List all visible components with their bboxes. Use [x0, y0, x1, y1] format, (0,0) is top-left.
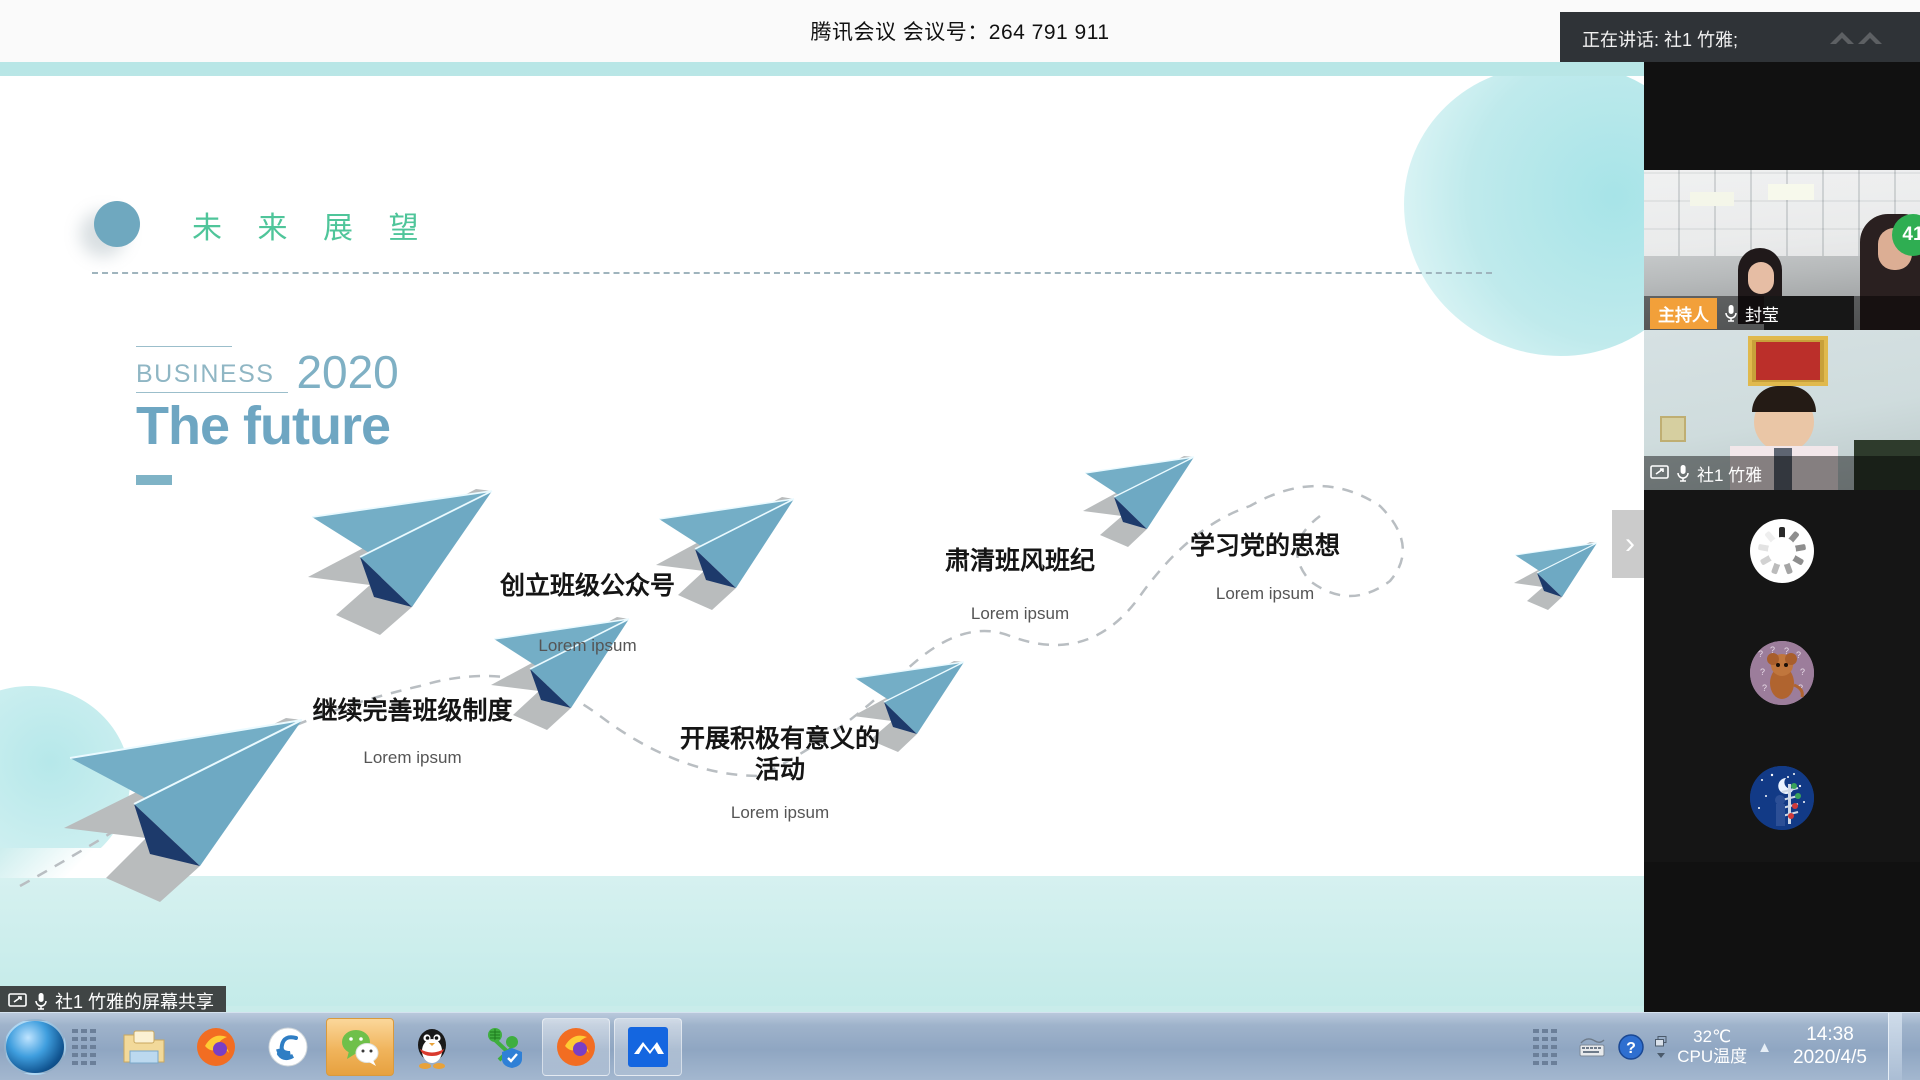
sogou-input-icon	[267, 1026, 309, 1068]
next-slide-button[interactable]: ›	[1612, 510, 1648, 578]
taskbar-qq-button[interactable]	[398, 1018, 466, 1076]
cpu-temp-value: 32℃	[1677, 1027, 1747, 1047]
tencent-meeting-icon	[626, 1025, 670, 1069]
clock-time: 14:38	[1782, 1024, 1878, 1047]
svg-text:?: ?	[1758, 649, 1763, 659]
speaking-text: 正在讲话: 社1 竹雅;	[1582, 26, 1738, 52]
shared-slide: 未 来 展 望 BUSINESS 2020 The future	[0, 76, 1644, 1006]
taskbar-tencent-meeting-button[interactable]	[614, 1018, 682, 1076]
taskbar-file-explorer-button[interactable]	[110, 1018, 178, 1076]
milestone-sub-4: Lorem ipsum	[905, 604, 1135, 624]
tray-overflow-group[interactable]	[1655, 1036, 1667, 1059]
file-explorer-icon	[122, 1027, 166, 1067]
svg-text:?: ?	[1626, 1040, 1636, 1057]
screen-root: 腾讯会议 会议号：264 791 911 正在讲话: 社1 竹雅; 未 来 展 …	[0, 0, 1920, 1080]
milestone-sub-1: Lorem ipsum	[295, 748, 530, 768]
speaking-indicator: 正在讲话: 社1 竹雅;	[1560, 12, 1920, 65]
microphone-icon	[1724, 304, 1738, 322]
milestone-sub-3: Lorem ipsum	[660, 803, 900, 823]
tencent-meeting-logo-icon	[1826, 26, 1906, 52]
window-restore-icon	[1655, 1036, 1667, 1047]
show-hidden-icons-button[interactable]: ▲	[1757, 1039, 1772, 1056]
participant-tile-sharer[interactable]: 社1 竹雅	[1644, 330, 1920, 490]
system-tray: ? 32℃ CPU温度 ▲ 14:38 2020/4/5	[1527, 1013, 1920, 1080]
participant-tile-3[interactable]: 马慧君	[1644, 490, 1920, 612]
participant-name-2: 社1 竹雅	[1697, 461, 1762, 486]
milestone-title-2: 创立班级公众号	[475, 571, 700, 602]
participant-video-5	[1644, 734, 1920, 862]
paper-plane-icon-1	[50, 706, 310, 906]
qq-penguin-icon	[413, 1025, 451, 1069]
quick-launch-handle[interactable]	[72, 1025, 106, 1069]
chevron-right-icon: ›	[1625, 529, 1635, 559]
loading-spinner-avatar-icon	[1750, 519, 1814, 583]
milestone-title-3: 开展积极有意义的 活动	[660, 724, 900, 787]
milestone-title-5: 学习党的思想	[1155, 531, 1375, 562]
show-desktop-button[interactable]	[1888, 1013, 1902, 1080]
screen-share-icon	[1650, 465, 1669, 482]
participant-tile-host[interactable]: 41 主持人 封莹	[1644, 170, 1920, 330]
taskbar-wechat-button[interactable]	[326, 1018, 394, 1076]
screen-share-icon	[8, 993, 27, 1010]
cpu-temperature-indicator[interactable]: 32℃ CPU温度	[1677, 1027, 1747, 1066]
participant-name-1: 封莹	[1745, 301, 1779, 326]
tray-handle[interactable]	[1533, 1025, 1567, 1069]
windows-taskbar: ? 32℃ CPU温度 ▲ 14:38 2020/4/5	[0, 1012, 1920, 1080]
participant-video-4: ??? ??? ??	[1644, 612, 1920, 734]
meeting-title: 腾讯会议 会议号：264 791 911	[810, 16, 1109, 46]
milestone-sub-2: Lorem ipsum	[475, 636, 700, 656]
svg-text:?: ?	[1760, 667, 1765, 677]
help-question-icon[interactable]: ?	[1617, 1033, 1645, 1061]
participant-tile-cohost[interactable]: ??? ??? ?? 联席主持人	[1644, 612, 1920, 734]
participant-footer-1: 主持人 封莹	[1644, 296, 1920, 330]
host-badge: 主持人	[1650, 298, 1717, 329]
wechat-icon	[339, 1027, 381, 1067]
svg-text:?: ?	[1800, 667, 1805, 677]
milestone-title-4: 肃清班风班纪	[905, 546, 1135, 577]
paper-plane-icon-7	[1510, 538, 1600, 613]
night-sky-avatar-icon	[1750, 766, 1814, 830]
taskbar-firefox-window-button[interactable]	[542, 1018, 610, 1076]
360-security-icon	[482, 1026, 526, 1068]
taskbar-360-security-button[interactable]	[470, 1018, 538, 1076]
jerry-mouse-avatar-icon: ??? ??? ??	[1750, 641, 1814, 705]
milestone-sub-5: Lorem ipsum	[1155, 584, 1375, 604]
firefox-icon	[555, 1026, 597, 1068]
participant-rail: 41 主持人 封莹	[1644, 62, 1920, 1012]
cpu-temp-label: CPU温度	[1677, 1047, 1747, 1067]
taskbar-sogou-button[interactable]	[254, 1018, 322, 1076]
screen-share-label-text: 社1 竹雅的屏幕共享	[55, 988, 214, 1014]
clock-date: 2020/4/5	[1782, 1047, 1878, 1070]
start-orb-button[interactable]	[4, 1019, 66, 1075]
microphone-icon	[1676, 464, 1690, 482]
paper-plane-icon-2	[300, 481, 500, 641]
milestone-title-1: 继续完善班级制度	[295, 696, 530, 727]
participant-footer-2: 社1 竹雅	[1644, 456, 1920, 490]
chevron-down-icon	[1655, 1051, 1667, 1059]
firefox-icon	[195, 1026, 237, 1068]
clock[interactable]: 14:38 2020/4/5	[1782, 1024, 1878, 1070]
taskbar-firefox-button[interactable]	[182, 1018, 250, 1076]
participant-tile-5[interactable]: 王胥博 ⌄	[1644, 734, 1920, 862]
svg-text:?: ?	[1762, 683, 1767, 693]
microphone-icon	[34, 992, 48, 1010]
participant-video-3	[1644, 490, 1920, 612]
keyboard-tray-icon[interactable]	[1577, 1035, 1607, 1059]
